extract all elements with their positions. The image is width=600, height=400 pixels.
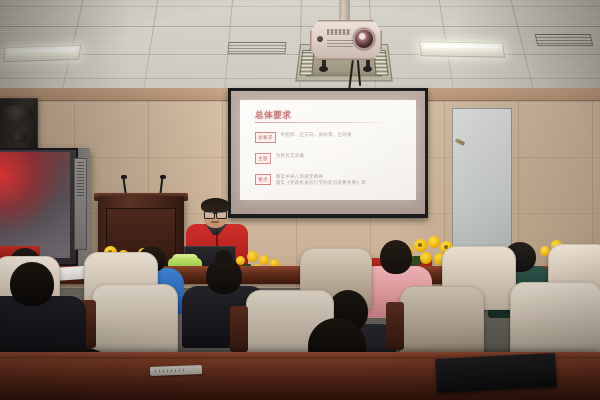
slide-row: 主题 为民务实清廉 [255, 153, 304, 164]
chair [510, 282, 600, 358]
slide-row: 重点 落实中央八项规定精神 落实《党政机关厉行节约反对浪费条例》等 [255, 174, 366, 186]
microphone-left-head [121, 175, 127, 179]
projector-lens-icon [353, 28, 375, 50]
slide-title-rule [255, 122, 391, 123]
attendee-head [380, 240, 412, 274]
slide-row-text: 听指挥、正方向、讲政策、出效果 [281, 132, 352, 138]
attendee-head [10, 262, 54, 306]
projector-icon [310, 20, 382, 60]
slide-row-text-2: 落实《党政机关厉行节约反对浪费条例》等 [276, 180, 366, 186]
chair-arm [386, 302, 404, 350]
presentation-slide: 总体要求 总要求 听指挥、正方向、讲政策、出效果 主题 为民务实清廉 重点 落实… [240, 100, 416, 200]
slide-row-tag: 总要求 [255, 132, 276, 143]
display-side-speaker [74, 158, 87, 250]
slide-row-text: 为民务实清廉 [276, 153, 304, 159]
projection-screen: 总体要求 总要求 听指挥、正方向、讲政策、出效果 主题 为民务实清廉 重点 落实… [228, 88, 428, 218]
chair [400, 286, 484, 356]
chair [92, 284, 178, 356]
wall-display-screen[interactable] [0, 152, 70, 258]
conference-room-photo: 总体要求 总要求 听指挥、正方向、讲政策、出效果 主题 为民务实清廉 重点 落实… [0, 0, 600, 400]
folder-right [435, 353, 557, 393]
slide-title: 总体要求 [255, 109, 291, 121]
glasses-icon [204, 211, 227, 217]
slide-row: 总要求 听指挥、正方向、讲政策、出效果 [255, 132, 352, 143]
slide-row-tag: 主题 [255, 153, 271, 164]
chair-arm [230, 306, 248, 352]
microphone-right-head [160, 175, 166, 179]
hair-bun [215, 250, 232, 264]
remote-control[interactable] [150, 365, 202, 376]
slide-row-tag: 重点 [255, 174, 271, 185]
